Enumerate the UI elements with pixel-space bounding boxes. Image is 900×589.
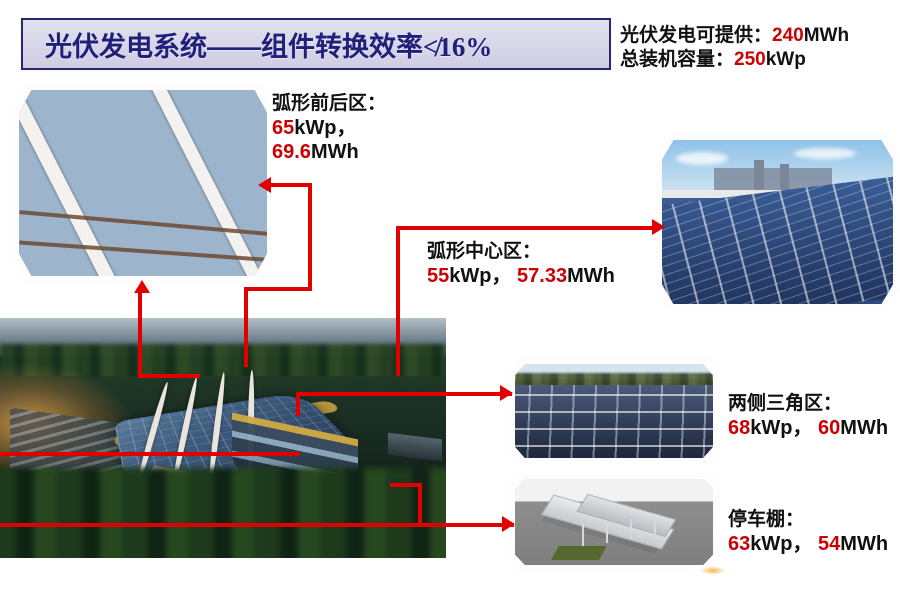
system-summary: 光伏发电可提供：240MWh 总装机容量：250kWp — [620, 24, 896, 73]
photo-rooftop-array — [662, 140, 893, 304]
callout-carport-heading: 停车棚： — [728, 508, 888, 532]
callout-front-back-capacity: 65kWp， — [272, 116, 386, 141]
callout-carport-zone: 停车棚： 63kWp， 54MWh — [728, 508, 888, 556]
callout-center-zone: 弧形中心区： 55kWp， 57.33MWh — [427, 240, 615, 288]
leader-triangle-v — [296, 392, 300, 416]
carport-post-3 — [630, 519, 632, 540]
leader-closeup-v — [308, 183, 312, 287]
summary-capacity-label: 总装机容量： — [620, 49, 734, 70]
leader-closeup-arrowhead — [258, 177, 271, 193]
photo-carport-render — [515, 479, 713, 565]
callout-triangle-heading: 两侧三角区： — [728, 392, 888, 416]
leader-center-arrowhead — [652, 219, 665, 235]
summary-generation-value: 240 — [772, 25, 804, 46]
carport-post-1 — [582, 524, 584, 546]
callout-center-heading: 弧形中心区： — [427, 240, 615, 264]
leader-closeup-h2 — [244, 287, 312, 291]
leader-carport-v — [418, 483, 422, 525]
carport-post-4 — [654, 516, 656, 536]
leader-triangle-h — [296, 392, 512, 396]
foreground-trees — [0, 468, 446, 558]
cloud-1 — [676, 152, 728, 165]
callout-triangle-zone: 两侧三角区： 68kWp， 60MWh — [728, 392, 888, 440]
photo-closeup-modules — [19, 90, 267, 276]
leader-closeup-v2 — [244, 287, 248, 367]
carport-post-2 — [606, 521, 608, 543]
callout-center-values: 55kWp， 57.33MWh — [427, 264, 615, 289]
photo-frame-carport — [508, 472, 720, 572]
summary-generation-label: 光伏发电可提供： — [620, 25, 772, 46]
callout-front-back-yield: 69.6MWh — [272, 140, 386, 165]
callout-triangle-values: 68kWp， 60MWh — [728, 416, 888, 441]
slide-canvas: 光伏发电系统——组件转换效率≮16% 光伏发电可提供：240MWh 总装机容量：… — [0, 0, 900, 589]
slide-title: 光伏发电系统——组件转换效率≮16% — [23, 25, 492, 64]
leader-closeup-h — [268, 183, 312, 187]
photo-frame-rows — [508, 357, 720, 465]
leader-carport-arrowhead — [502, 516, 515, 532]
leader-left-h — [0, 452, 300, 456]
photo-frame-closeup — [12, 83, 274, 283]
leader-center-h — [396, 226, 660, 230]
summary-capacity-unit: kWp — [766, 49, 806, 70]
leader-closeup-up-arrowhead — [134, 280, 150, 293]
bottom-watermark-mark — [700, 566, 726, 575]
summary-generation-row: 光伏发电可提供：240MWh — [620, 24, 896, 48]
summary-generation-unit: MWh — [804, 25, 849, 46]
leader-carport-h — [0, 523, 514, 527]
callout-front-back-zone: 弧形前后区： 65kWp， 69.6MWh — [272, 92, 386, 165]
roof-beam-2 — [137, 90, 267, 276]
carport-grass — [551, 546, 606, 560]
photo-triangle-zone-rows — [515, 364, 713, 458]
leader-carport-h2 — [390, 483, 420, 487]
main-building-rendering — [0, 318, 446, 558]
cloud-2 — [794, 148, 856, 159]
callout-front-back-heading: 弧形前后区： — [272, 92, 386, 116]
leader-closeup-up-v — [138, 292, 142, 378]
leader-center-v — [396, 226, 400, 376]
summary-capacity-row: 总装机容量：250kWp — [620, 48, 896, 72]
leader-triangle-arrowhead — [500, 385, 513, 401]
summary-capacity-value: 250 — [734, 49, 766, 70]
skyline-tower-1 — [754, 160, 764, 194]
pv-panel-rows — [515, 385, 713, 458]
photo-frame-rooftop — [655, 133, 900, 311]
leader-closeup-up-h — [138, 374, 200, 378]
slide-title-box: 光伏发电系统——组件转换效率≮16% — [21, 18, 611, 70]
callout-carport-values: 63kWp， 54MWh — [728, 532, 888, 557]
